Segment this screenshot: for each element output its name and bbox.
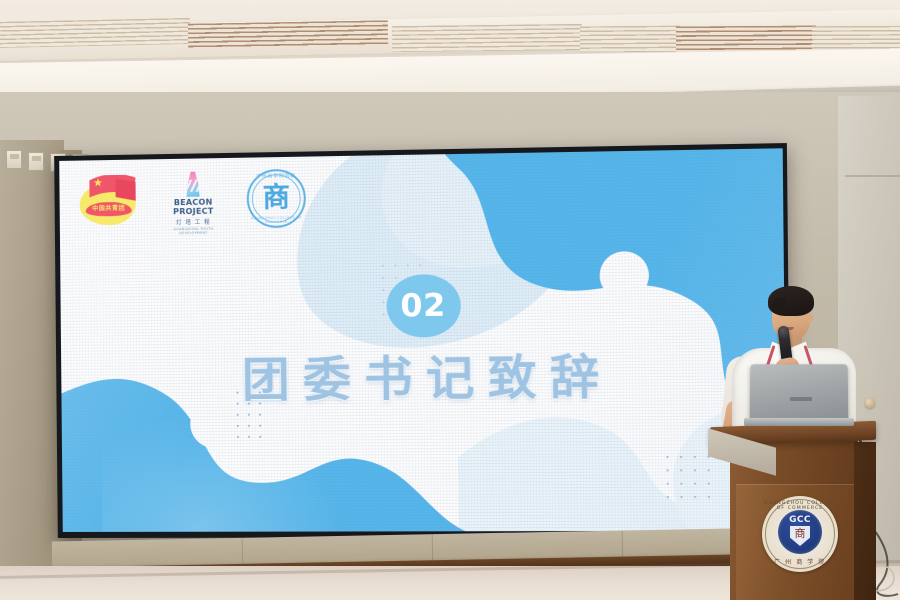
beacon-english-sub: GUANGDONG YOUTH DEVELOPMENT (166, 226, 221, 235)
ceiling-vent (188, 20, 388, 49)
section-number-badge: 02 (60, 270, 784, 341)
section-number-text: 02 (386, 274, 461, 338)
wall-seam (845, 175, 900, 177)
light-switch[interactable] (6, 150, 22, 169)
communist-youth-league-emblem-icon: 中国共青团 (77, 175, 140, 228)
laptop-base (744, 418, 854, 426)
gcc-crest-icon: GUANGZHOU COLLEGE OF COMMERCE GCC 广 州 商 … (762, 496, 838, 572)
lighthouse-icon (184, 172, 202, 197)
ceiling-vent (392, 24, 582, 52)
laptop-lid (750, 364, 849, 420)
presentation-slide[interactable]: 中国共青团 BEACON PROJECT 灯 塔 工 程 GUANGDONG Y… (59, 148, 786, 532)
seal-chinese-arc: 广州商学院团委 (247, 173, 306, 180)
cyl-ribbon-text: 中国共青团 (86, 202, 132, 217)
seal-english-arc: GUANGZHOU COLLEGE OF COMMERCE (247, 215, 306, 224)
beacon-project-logo-icon: BEACON PROJECT 灯 塔 工 程 GUANGDONG YOUTH D… (166, 171, 221, 228)
ceiling-vent (0, 18, 190, 48)
seal-center-glyph: 商 (260, 182, 293, 215)
speaker-hair (768, 286, 814, 316)
gcc-chinese-text: 广 州 商 学 院 (762, 557, 838, 566)
light-switch[interactable] (28, 152, 44, 171)
ceiling-vent (580, 26, 680, 53)
gcc-abbreviation: GCC (778, 515, 822, 525)
podium-side (854, 442, 876, 600)
lectern-podium: GUANGZHOU COLLEGE OF COMMERCE GCC 广 州 商 … (716, 424, 876, 600)
auditorium-scene: 中国共青团 BEACON PROJECT 灯 塔 工 程 GUANGDONG Y… (0, 0, 900, 600)
presenter-laptop[interactable] (744, 364, 850, 430)
ceiling-vent (676, 26, 816, 53)
beacon-chinese: 灯 塔 工 程 (166, 217, 221, 226)
slide-title: 团委书记致辞 (61, 336, 785, 412)
college-seal-icon: 广州商学院团委 商 GUANGZHOU COLLEGE OF COMMERCE (247, 169, 307, 228)
slide-logo-row: 中国共青团 BEACON PROJECT 灯 塔 工 程 GUANGDONG Y… (77, 169, 306, 231)
led-screen-frame: 中国共青团 BEACON PROJECT 灯 塔 工 程 GUANGDONG Y… (54, 143, 791, 538)
beacon-line2: PROJECT (166, 207, 221, 216)
